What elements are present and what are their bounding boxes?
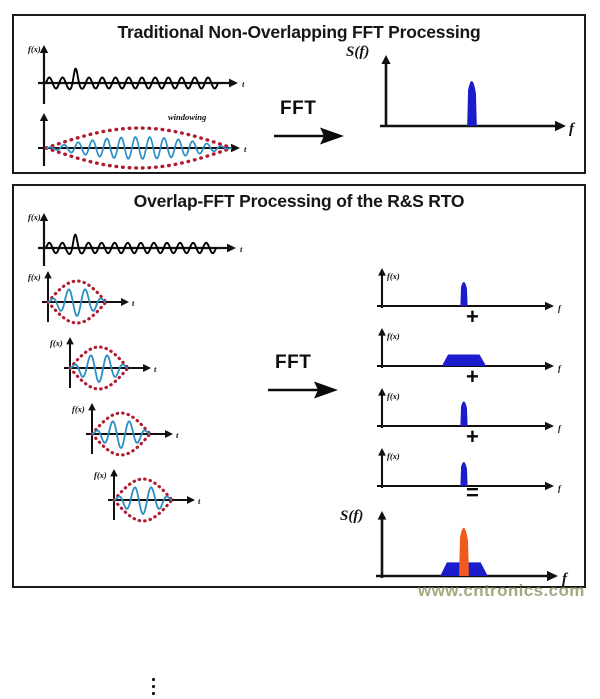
plot-traditional-signal: f(x) t <box>22 42 252 112</box>
fft-operator-label-bottom: FFT <box>275 352 311 374</box>
windowed-segment: f(x)t <box>50 337 157 389</box>
x-axis-label: f <box>558 303 562 313</box>
fft-operator-label-top: FFT <box>280 98 316 120</box>
x-axis-label: t <box>176 430 179 440</box>
panel-overlap: Overlap-FFT Processing of the R&S RTO f(… <box>12 184 586 588</box>
y-axis-label: f(x) <box>50 338 63 348</box>
windowing-annotation: windowing <box>168 112 207 122</box>
y-axis-label: f(x) <box>387 451 400 461</box>
axes <box>38 113 240 166</box>
windowed-segment: f(x)t <box>72 403 179 455</box>
x-axis-label: t <box>244 144 247 154</box>
signal-waveform <box>46 235 216 254</box>
x-axis-label: t <box>132 298 135 308</box>
spectrum-shape <box>460 401 467 426</box>
operator-plus-2: + <box>466 366 479 388</box>
windowed-waveform <box>46 137 232 159</box>
plot-traditional-spectrum: S(f) f <box>362 38 582 143</box>
segments-ellipsis <box>152 678 155 699</box>
operator-plus-3: + <box>466 426 479 448</box>
x-axis-label: t <box>240 244 243 254</box>
x-axis-label: t <box>154 364 157 374</box>
operator-equals: = <box>466 482 479 504</box>
y-axis-label: f(x) <box>94 470 107 480</box>
windowed-segment: f(x)t <box>28 271 135 323</box>
axes <box>38 213 236 266</box>
x-axis-label: f <box>569 121 576 137</box>
operator-plus-1: + <box>466 306 479 328</box>
y-axis-label: S(f) <box>340 508 363 524</box>
axes <box>38 45 238 104</box>
x-axis-label: f <box>558 483 562 493</box>
watermark: www.cntronics.com <box>418 581 585 601</box>
y-axis-label: f(x) <box>28 212 41 222</box>
spectrum-peak <box>467 81 477 126</box>
spectrum-component <box>459 528 469 576</box>
panel-title-overlap: Overlap-FFT Processing of the R&S RTO <box>14 191 584 212</box>
x-axis-label: t <box>198 496 201 506</box>
x-axis-label: f <box>558 363 562 373</box>
panel-traditional: Traditional Non-Overlapping FFT Processi… <box>12 14 586 174</box>
plot-traditional-windowed: windowing t <box>22 108 262 174</box>
x-axis-label: f <box>558 423 562 433</box>
y-axis-label: f(x) <box>387 271 400 281</box>
spectrum-shape <box>442 354 486 366</box>
windowed-segment: f(x)t <box>94 469 201 521</box>
y-axis-label: f(x) <box>387 391 400 401</box>
x-axis-label: t <box>242 79 245 89</box>
plot-overlap-segments: f(x)tf(x)tf(x)tf(x)t <box>20 264 270 554</box>
plot-overlap-signal: f(x) t <box>22 210 252 272</box>
y-axis-label: f(x) <box>387 331 400 341</box>
fft-arrow-top <box>272 124 352 148</box>
y-axis-label: f(x) <box>28 272 41 282</box>
fft-arrow-bottom <box>266 378 346 402</box>
spectrum-result-plot: S(f)f <box>340 508 569 587</box>
signal-waveform <box>46 69 218 90</box>
y-axis-label: f(x) <box>72 404 85 414</box>
spectrum-shape <box>460 282 467 306</box>
y-axis-label: f(x) <box>28 44 41 54</box>
y-axis-label: S(f) <box>346 44 369 60</box>
